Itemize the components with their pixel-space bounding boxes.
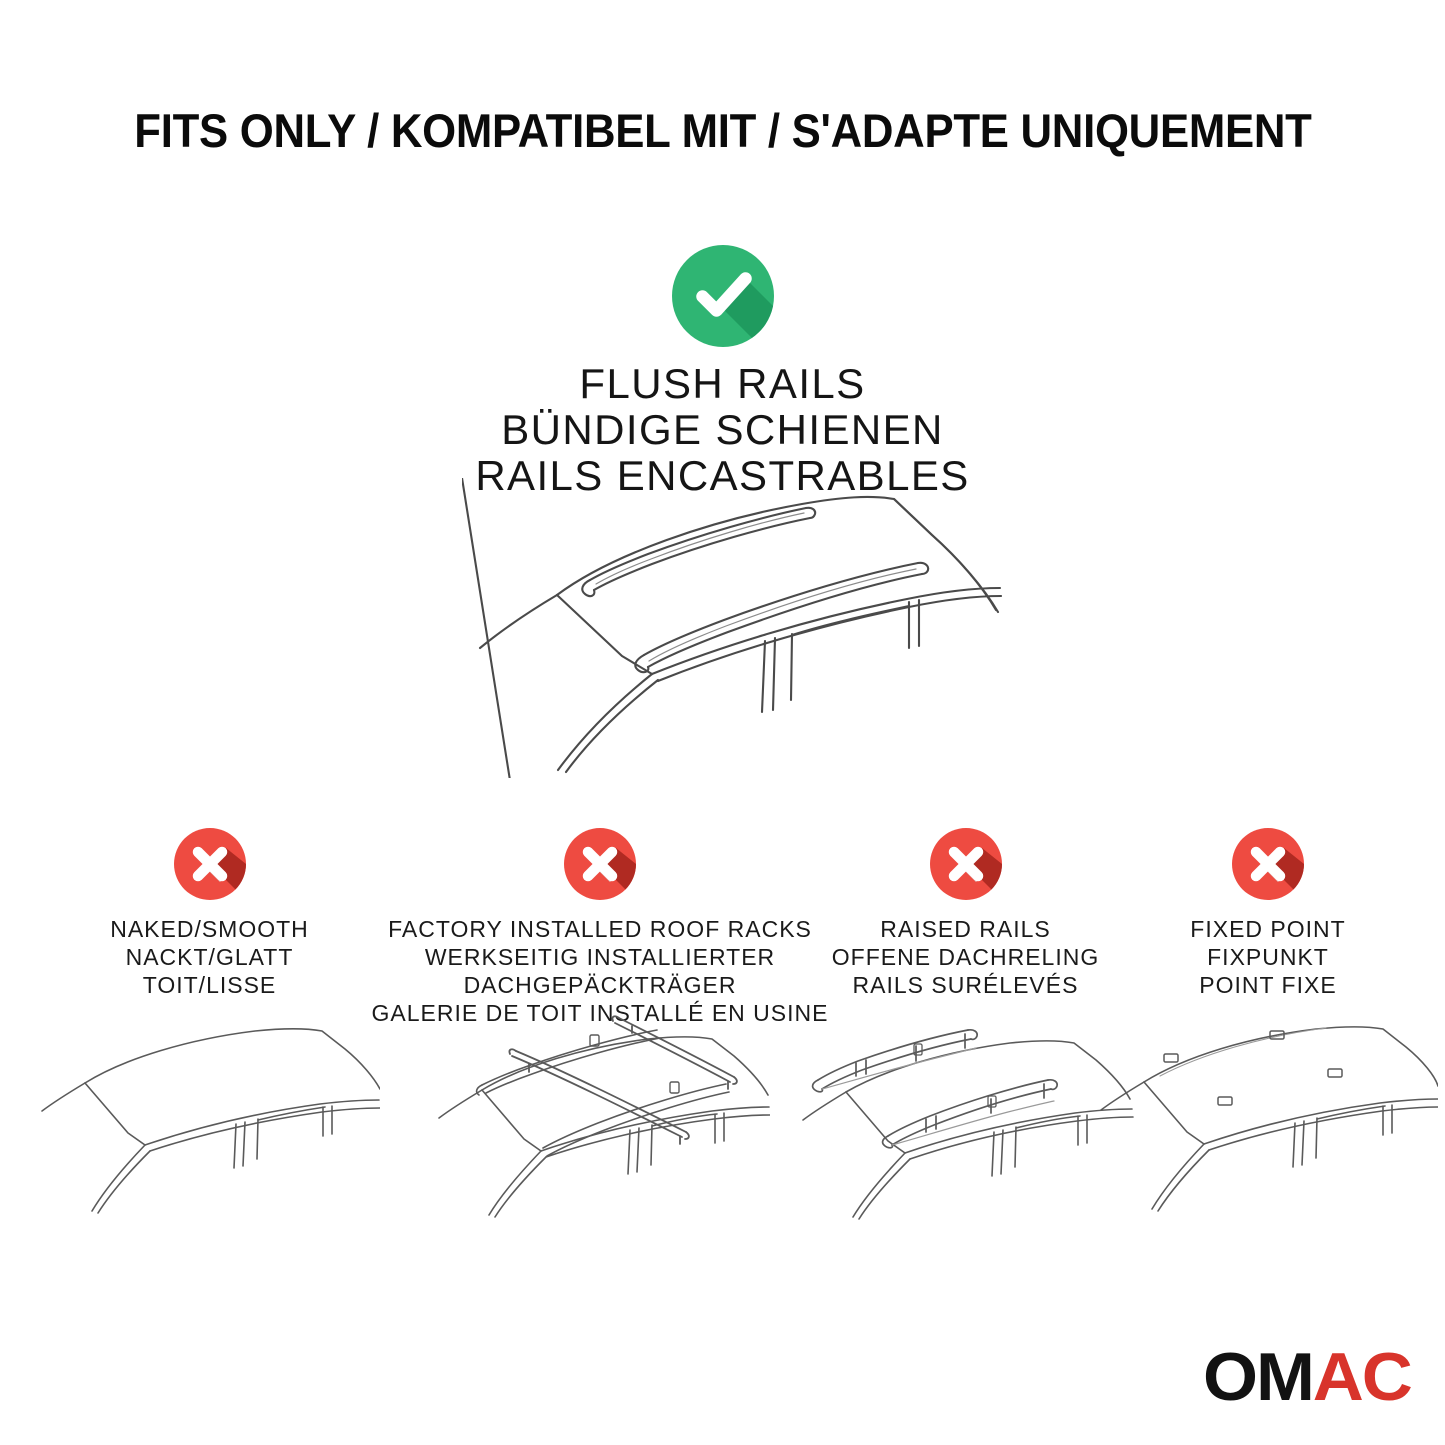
incompatible-item-raised-rails: RAISED RAILS OFFENE DACHRELING RAILS SUR…: [818, 828, 1113, 999]
red-x-icon: [930, 828, 1002, 900]
incompatible-labels: RAISED RAILS OFFENE DACHRELING RAILS SUR…: [818, 915, 1113, 999]
compatible-label-de: BÜNDIGE SCHIENEN: [0, 407, 1445, 453]
incompatible-labels: NAKED/SMOOTH NACKT/GLATT TOIT/LISSE: [37, 915, 382, 999]
label-en: FIXED POINT: [1128, 915, 1408, 943]
label-en: FACTORY INSTALLED ROOF RACKS: [370, 915, 830, 943]
incompatible-labels: FIXED POINT FIXPUNKT POINT FIXE: [1128, 915, 1408, 999]
red-x-icon: [174, 828, 246, 900]
label-en: RAISED RAILS: [818, 915, 1113, 943]
car-roof-naked-smooth-illustration: [40, 1006, 380, 1231]
label-de-2: DACHGEPÄCKTRÄGER: [370, 971, 830, 999]
incompatible-section: NAKED/SMOOTH NACKT/GLATT TOIT/LISSE: [0, 828, 1445, 1258]
label-fr: TOIT/LISSE: [37, 971, 382, 999]
page-title: FITS ONLY / KOMPATIBEL MIT / S'ADAPTE UN…: [0, 103, 1445, 159]
green-check-icon: [672, 245, 774, 347]
label-de: NACKT/GLATT: [37, 943, 382, 971]
compatible-section: FLUSH RAILS BÜNDIGE SCHIENEN RAILS ENCAS…: [0, 245, 1445, 499]
label-en: NAKED/SMOOTH: [37, 915, 382, 943]
label-fr: POINT FIXE: [1128, 971, 1408, 999]
compatible-label-en: FLUSH RAILS: [0, 361, 1445, 407]
car-roof-fixed-point-illustration: [1098, 1006, 1438, 1231]
page-title-text: FITS ONLY / KOMPATIBEL MIT / S'ADAPTE UN…: [134, 103, 1311, 159]
compatibility-infographic: FITS ONLY / KOMPATIBEL MIT / S'ADAPTE UN…: [0, 0, 1445, 1445]
car-roof-raised-rails-illustration: [796, 1006, 1136, 1231]
logo-text-dark: OM: [1203, 1339, 1313, 1415]
label-de: FIXPUNKT: [1128, 943, 1408, 971]
label-fr: RAILS SURÉLEVÉS: [818, 971, 1113, 999]
label-de: OFFENE DACHRELING: [818, 943, 1113, 971]
omac-logo: OMAC: [1203, 1343, 1411, 1411]
red-x-icon: [1232, 828, 1304, 900]
label-de-1: WERKSEITIG INSTALLIERTER: [370, 943, 830, 971]
incompatible-item-fixed-point: FIXED POINT FIXPUNKT POINT FIXE: [1128, 828, 1408, 999]
incompatible-item-factory-racks: FACTORY INSTALLED ROOF RACKS WERKSEITIG …: [370, 828, 830, 1027]
car-roof-flush-rails-illustration: [462, 478, 1002, 778]
red-x-icon: [564, 828, 636, 900]
car-roof-factory-racks-illustration: [430, 1006, 770, 1231]
logo-text-red: AC: [1313, 1339, 1411, 1415]
incompatible-item-naked-smooth: NAKED/SMOOTH NACKT/GLATT TOIT/LISSE: [37, 828, 382, 999]
